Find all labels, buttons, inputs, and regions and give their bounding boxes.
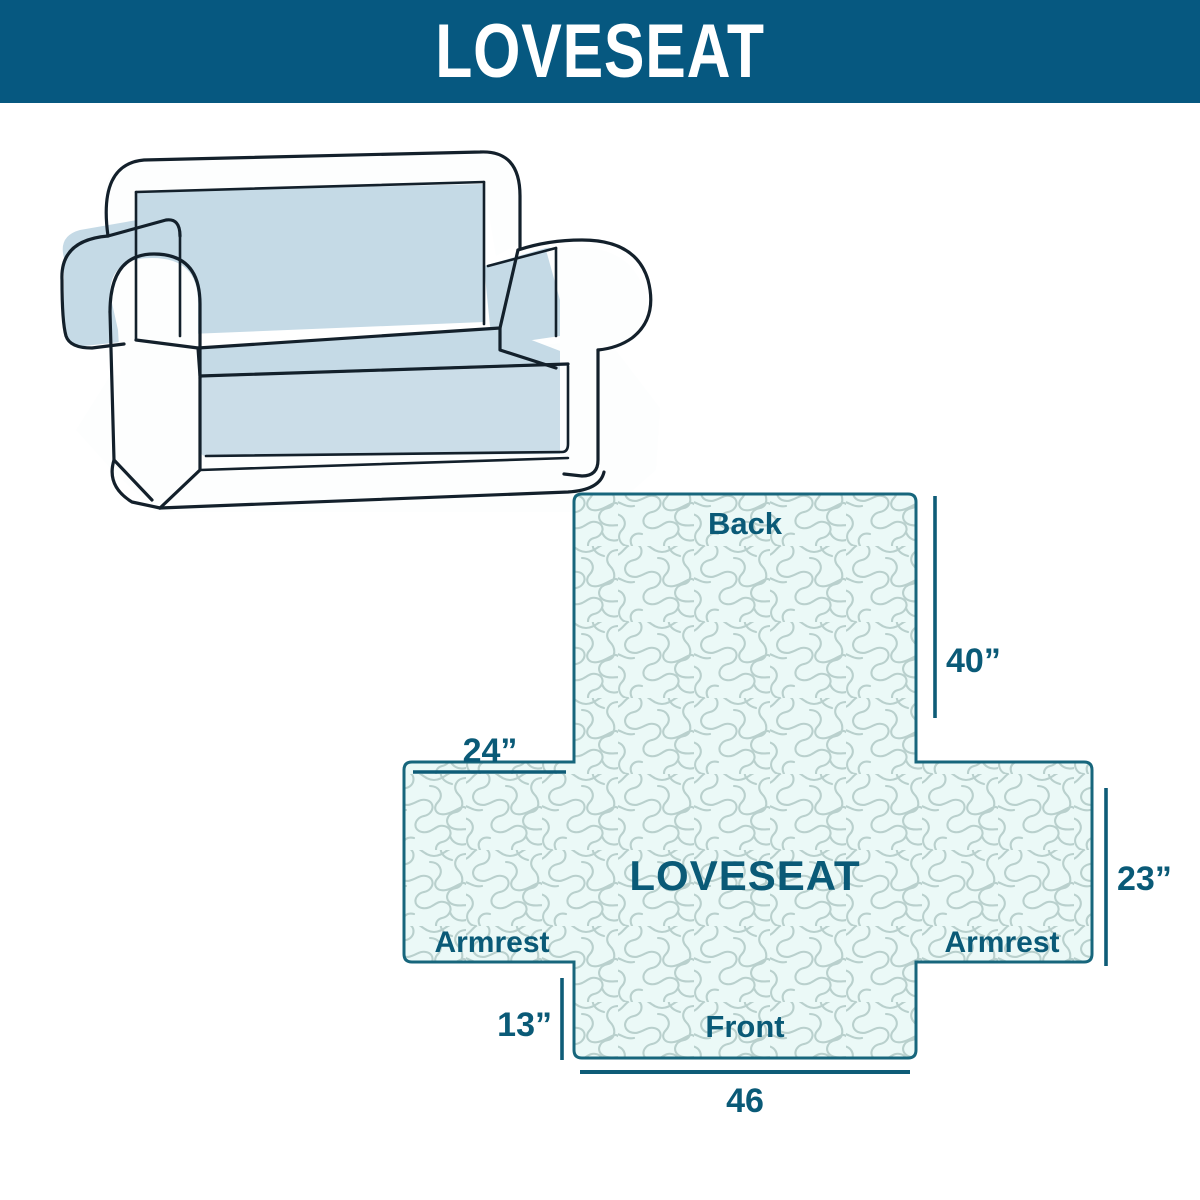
product-dimension-page: LOVESEAT .ol { fill:none; stroke:#13202B… [0,0,1200,1200]
section-label-back: Back [708,506,783,541]
dimension-label-back-offset: 24” [463,732,518,770]
section-label-armrest-right: Armrest [944,926,1059,959]
cover-pattern-svg: Back LOVESEAT Armrest Armrest Front 40” … [390,470,1180,1130]
cover-shape-fill [404,494,1092,1058]
dimension-label-front-drop: 13” [497,1006,552,1044]
page-title: LOVESEAT [435,14,765,90]
dimension-label-armrest-depth: 23” [1117,860,1172,898]
header-banner: LOVESEAT [0,0,1200,103]
section-label-front: Front [705,1009,784,1044]
dimension-label-back-height: 40” [946,642,1001,680]
dimension-label-overall-width: 46 [726,1082,764,1120]
section-label-armrest-left: Armrest [434,926,549,959]
sofa-right-arm-shade [484,248,560,346]
pattern-center-label: LOVESEAT [629,852,860,899]
cover-pattern-diagram: Back LOVESEAT Armrest Armrest Front 40” … [390,470,1180,1130]
sofa-front-skirt-shade [200,366,568,456]
